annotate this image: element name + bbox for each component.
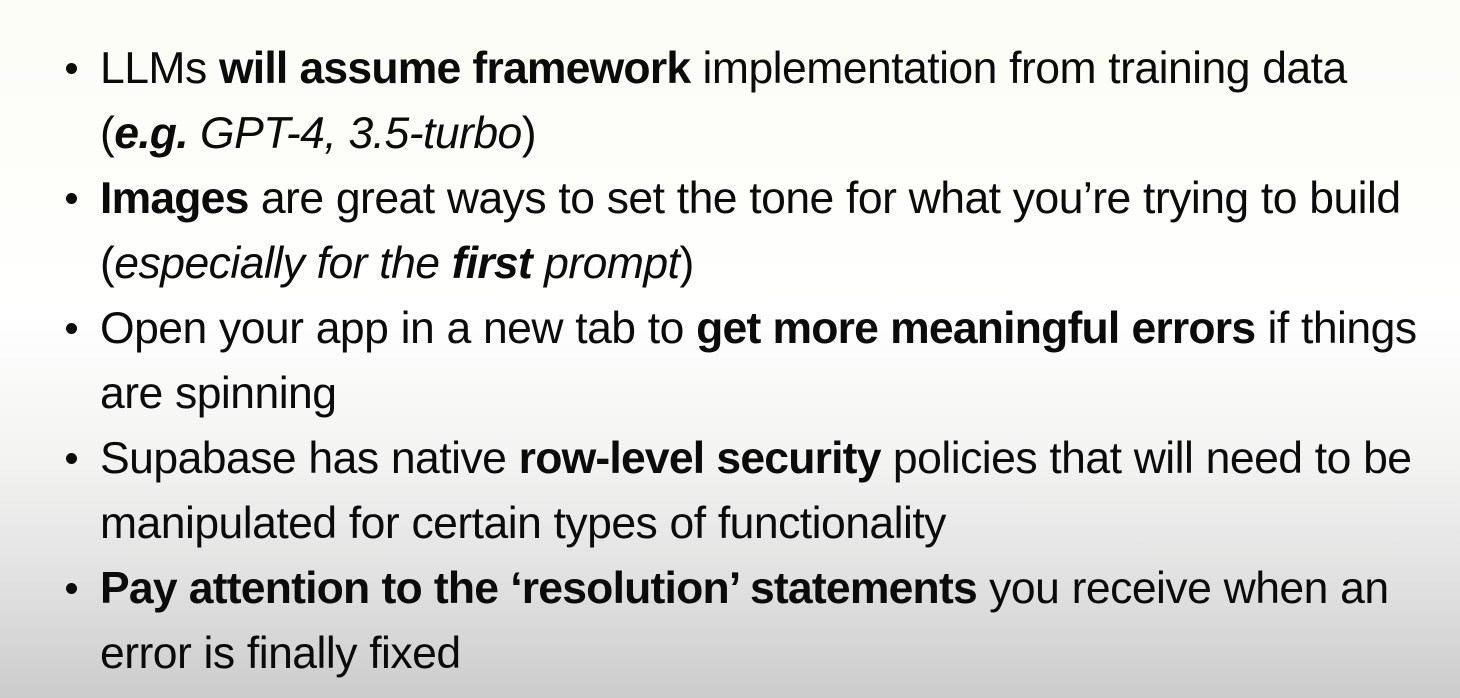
text-run: GPT-4, 3.5-turbo [200, 109, 522, 158]
text-run: get more meaningful errors [696, 304, 1255, 353]
bullet-text: Open your app in a new tab to get more m… [100, 296, 1442, 426]
text-run: first [452, 239, 532, 288]
text-run: Pay attention to the ‘resolution’ statem… [100, 564, 977, 613]
bullet-point-icon [66, 583, 77, 594]
bullet-point-icon [66, 323, 77, 334]
list-item: Open your app in a new tab to get more m… [0, 296, 1460, 426]
text-run: Images [100, 174, 249, 223]
list-item: Pay attention to the ‘resolution’ statem… [0, 556, 1460, 686]
bullet-text: Supabase has native row-level security p… [100, 426, 1442, 556]
slide-canvas: LLMs will assume framework implementatio… [0, 0, 1460, 698]
bullet-text: Images are great ways to set the tone fo… [100, 166, 1442, 296]
text-run: especially for the [114, 239, 451, 288]
text-run: ) [679, 239, 693, 288]
text-run: will assume framework [219, 44, 690, 93]
bullet-text: LLMs will assume framework implementatio… [100, 36, 1442, 166]
list-item: Supabase has native row-level security p… [0, 426, 1460, 556]
bullet-text: Pay attention to the ‘resolution’ statem… [100, 556, 1442, 686]
list-item: Images are great ways to set the tone fo… [0, 166, 1460, 296]
bullet-point-icon [66, 193, 77, 204]
bullet-point-icon [66, 63, 77, 74]
text-run: e.g. [114, 109, 187, 158]
text-run: ) [522, 109, 536, 158]
text-run: Open your app in a new tab to [100, 304, 696, 353]
text-run [188, 109, 200, 158]
text-run: row-level security [519, 434, 881, 483]
bullet-list: LLMs will assume framework implementatio… [0, 36, 1460, 686]
list-item: LLMs will assume framework implementatio… [0, 36, 1460, 166]
text-run: prompt [532, 239, 680, 288]
bullet-point-icon [66, 453, 77, 464]
text-run: LLMs [100, 44, 219, 93]
text-run: Supabase has native [100, 434, 519, 483]
